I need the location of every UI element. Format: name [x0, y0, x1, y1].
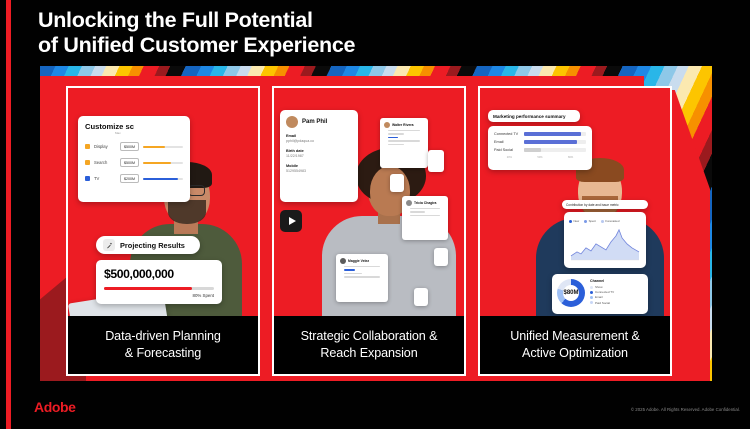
channel-label: TV: [94, 176, 116, 181]
placeholder-line: [388, 137, 398, 138]
channel-budget-value[interactable]: $200M: [120, 174, 139, 183]
donut-legend-item: Paid Social: [590, 301, 614, 305]
avatar: [286, 116, 298, 128]
donut-center-value: $80M: [557, 279, 585, 307]
panel-unified-measurement[interactable]: Marketing performance summary Connected …: [478, 86, 672, 376]
bar-fill: [524, 140, 577, 144]
projecting-results-label: Projecting Results: [120, 241, 185, 250]
avatar: [384, 122, 390, 128]
legend-dot: [601, 220, 604, 223]
bar-axis: 20% 50% 80%: [494, 156, 586, 159]
contact-field-mobile: Mobile 5129554983: [286, 164, 352, 173]
glasses-icon-right: [188, 185, 205, 196]
play-triangle: [289, 217, 296, 225]
slide-canvas: Unlocking the Full Potential of Unified …: [0, 0, 750, 429]
contact-name: Pam Phil: [302, 119, 327, 125]
channel-slider-fill: [143, 178, 178, 180]
placeholder-line: [344, 276, 380, 277]
placeholder-line: [410, 208, 440, 209]
axis-tick: 80%: [568, 156, 573, 159]
mini-card-blank[interactable]: [434, 248, 448, 266]
person-1-beard: [168, 200, 206, 224]
channel-label: Search: [94, 160, 116, 165]
panel-1-caption-line-1: Data-driven Planning: [105, 328, 221, 345]
legend-dot: [569, 220, 572, 223]
donut-legend: Channel Show Connected TV Email: [590, 279, 614, 309]
channel-swatch: [85, 176, 90, 181]
panel-3-caption-line-1: Unified Measurement &: [510, 328, 640, 345]
customize-scenario-card[interactable]: Customize sc Max Display $500M Search $5: [78, 116, 190, 202]
contact-field-email: Email pphil@pdaqua.co: [286, 134, 352, 143]
mini-card-blank[interactable]: [414, 288, 428, 306]
marketing-summary-title: Marketing performance summary: [493, 114, 566, 119]
placeholder-line: [344, 269, 355, 270]
bar-fill: [524, 148, 541, 152]
channel-slider-track[interactable]: [143, 146, 183, 148]
bar-track: [524, 140, 586, 144]
panel-1-caption-line-2: & Forecasting: [125, 345, 201, 362]
channel-performance-bars-card[interactable]: Connected TV Email Paid Social: [488, 126, 592, 170]
channel-swatch: [85, 144, 90, 149]
trend-chart-title: Contribution by date and issue metric: [566, 203, 619, 207]
legend-label: Show: [595, 285, 603, 289]
panel-2-artwork: Pam Phil Email pphil@pdaqua.co Birth dat…: [274, 88, 464, 320]
legend-label: Email: [595, 295, 603, 299]
title-line-2: of Unified Customer Experience: [38, 33, 578, 58]
spend-progress-fill: [104, 287, 192, 290]
avatar: [406, 200, 412, 206]
avatar: [340, 258, 346, 264]
spend-progress-label: 80% Spent: [104, 293, 214, 298]
magic-wand-icon: [103, 239, 115, 251]
panel-3-caption: Unified Measurement & Active Optimizatio…: [480, 316, 670, 374]
legend-item: Forecasted: [601, 219, 620, 223]
customize-card-header: Customize sc: [85, 122, 183, 131]
spend-summary-card[interactable]: $500,000,000 80% Spent: [96, 260, 222, 304]
mini-profile-name: Tricia Chagira: [414, 201, 436, 205]
field-value: 5129554983: [286, 169, 352, 173]
legend-dot: [590, 301, 593, 304]
panel-1-caption: Data-driven Planning & Forecasting: [68, 316, 258, 374]
bar-row: Connected TV: [494, 132, 586, 136]
mini-profile-card[interactable]: Maggie Velez: [336, 254, 388, 302]
bar-label: Paid Social: [494, 148, 520, 152]
panel-3-artwork: Marketing performance summary Connected …: [480, 88, 670, 320]
content-area: Customize sc Max Display $500M Search $5: [40, 66, 712, 381]
bar-label: Email: [494, 140, 520, 144]
bar-row: Paid Social: [494, 148, 586, 152]
bar-track: [524, 148, 586, 152]
placeholder-line: [344, 266, 380, 267]
copyright-text: © 2025 Adobe. All Rights Reserved. Adobe…: [631, 407, 740, 412]
channel-contribution-donut-card[interactable]: $80M Channel Show Connected TV: [552, 274, 648, 314]
placeholder-line: [388, 130, 420, 131]
mini-card-blank[interactable]: [390, 174, 404, 192]
channel-swatch: [85, 160, 90, 165]
contact-field-birthdate: Birth date 11/22/1987: [286, 149, 352, 158]
mini-profile-card[interactable]: Walter Rivera: [380, 118, 428, 168]
placeholder-line: [388, 133, 404, 134]
play-icon[interactable]: [280, 210, 302, 232]
mini-profile-card[interactable]: Tricia Chagira: [402, 196, 448, 240]
field-key: Mobile: [286, 164, 352, 168]
legend-label: Paid Social: [595, 301, 610, 305]
projecting-results-card[interactable]: Projecting Results: [96, 236, 200, 254]
marketing-summary-title-card: Marketing performance summary: [488, 110, 580, 122]
panel-3-caption-line-2: Active Optimization: [522, 345, 628, 362]
legend-label: Spent: [589, 219, 596, 223]
field-key: Email: [286, 134, 352, 138]
left-accent-bar: [6, 0, 11, 429]
bar-row: Email: [494, 140, 586, 144]
placeholder-line: [344, 273, 362, 274]
title-line-1: Unlocking the Full Potential: [38, 8, 313, 32]
legend-item: Spent: [584, 219, 596, 223]
donut-legend-item: Email: [590, 295, 614, 299]
adobe-logo: Adobe: [34, 399, 76, 415]
panel-data-driven-planning[interactable]: Customize sc Max Display $500M Search $5: [66, 86, 260, 376]
channel-slider-track[interactable]: [143, 162, 183, 164]
placeholder-line: [388, 144, 404, 145]
donut-chart: $80M: [557, 279, 585, 307]
trend-chart-title-card: Contribution by date and issue metric: [562, 200, 648, 209]
legend-label: New: [574, 219, 580, 223]
channel-slider-fill: [143, 146, 165, 148]
legend-dot: [584, 220, 587, 223]
customize-row[interactable]: TV $200M: [85, 174, 183, 183]
legend-dot: [590, 296, 593, 299]
legend-item: New: [569, 219, 579, 223]
mini-profile-name: Maggie Velez: [348, 259, 369, 263]
bar-track: [524, 132, 586, 136]
axis-tick: 50%: [537, 156, 542, 159]
channel-slider-track[interactable]: [143, 178, 183, 180]
donut-legend-title: Channel: [590, 279, 614, 283]
field-value: pphil@pdaqua.co: [286, 139, 352, 143]
legend-dot: [590, 286, 593, 289]
channel-label: Display: [94, 144, 116, 149]
field-value: 11/22/1987: [286, 154, 352, 158]
customize-row[interactable]: Search $500M: [85, 158, 183, 167]
bar-label: Connected TV: [494, 132, 520, 136]
panel-1-artwork: Customize sc Max Display $500M Search $5: [68, 88, 258, 320]
mini-card-blank[interactable]: [428, 150, 444, 172]
placeholder-line: [388, 140, 420, 141]
page-title: Unlocking the Full Potential of Unified …: [38, 8, 578, 58]
panel-2-caption-line-2: Reach Expansion: [320, 345, 417, 362]
legend-dot: [590, 291, 593, 294]
channel-slider-fill: [143, 162, 171, 164]
panel-strategic-collaboration[interactable]: Pam Phil Email pphil@pdaqua.co Birth dat…: [272, 86, 466, 376]
contact-profile-card[interactable]: Pam Phil Email pphil@pdaqua.co Birth dat…: [280, 110, 358, 202]
legend-label: Forecasted: [605, 219, 619, 223]
panel-2-caption: Strategic Collaboration & Reach Expansio…: [274, 316, 464, 374]
mini-profile-name: Walter Rivera: [392, 123, 414, 127]
customize-row[interactable]: Display $500M: [85, 142, 183, 151]
customize-column-header: Max: [115, 131, 183, 135]
trend-chart-card[interactable]: New Spent Forecasted: [564, 212, 646, 268]
donut-legend-item: Connected TV: [590, 290, 614, 294]
channel-budget-value[interactable]: $500M: [120, 142, 139, 151]
channel-budget-value[interactable]: $500M: [120, 158, 139, 167]
placeholder-line: [410, 215, 440, 216]
field-key: Birth date: [286, 149, 352, 153]
spend-amount: $500,000,000: [104, 267, 214, 281]
axis-tick: 20%: [507, 156, 512, 159]
bar-fill: [524, 132, 581, 136]
spend-progress-track: [104, 287, 214, 290]
placeholder-line: [410, 211, 425, 212]
trend-area-chart: [569, 226, 641, 262]
donut-legend-item: Show: [590, 285, 614, 289]
legend-label: Connected TV: [595, 290, 614, 294]
trend-legend: New Spent Forecasted: [569, 219, 641, 223]
panel-2-caption-line-1: Strategic Collaboration &: [301, 328, 438, 345]
